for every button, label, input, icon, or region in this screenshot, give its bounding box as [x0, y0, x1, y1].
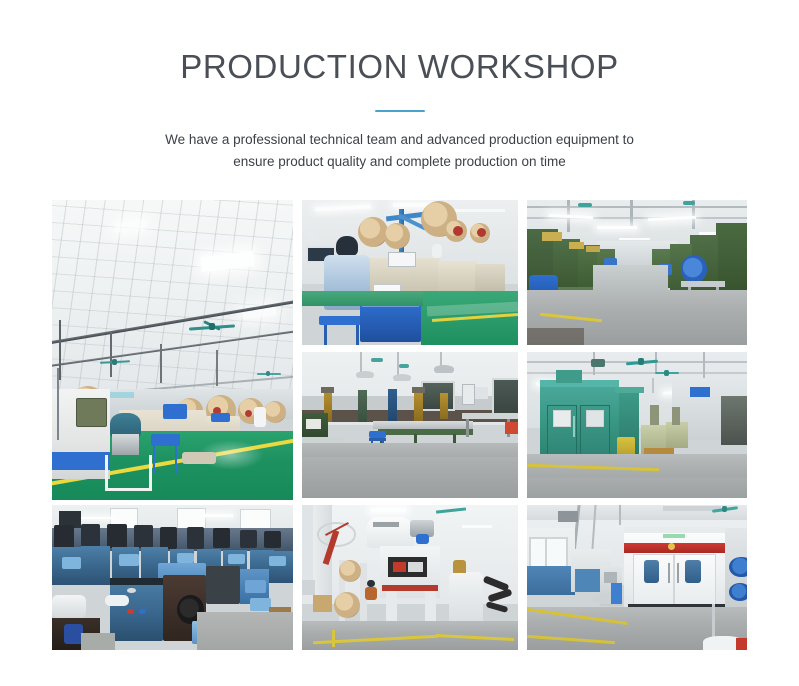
ceiling-fan-icon	[189, 323, 235, 332]
worker-figure	[365, 580, 377, 600]
gallery-photo-2[interactable]	[302, 200, 518, 345]
gallery-photo-4[interactable]	[302, 352, 518, 498]
photo-8-scene	[527, 505, 747, 650]
photo-2-scene	[302, 200, 518, 345]
ceiling-fan-icon	[655, 370, 679, 377]
gallery-photo-3[interactable]	[527, 200, 747, 345]
ceiling-fan-icon	[257, 371, 281, 377]
photo-4-scene	[302, 352, 518, 498]
section-subtitle: We have a professional technical team an…	[140, 112, 660, 173]
photo-3-scene	[527, 200, 747, 345]
photo-6-scene	[52, 505, 293, 650]
photo-7-scene	[302, 505, 518, 650]
gallery-photo-8[interactable]	[527, 505, 747, 650]
gallery-photo-6[interactable]	[52, 505, 293, 650]
gallery-photo-7[interactable]	[302, 505, 518, 650]
subtitle-line-2: ensure product quality and complete prod…	[233, 154, 565, 169]
photo-5-scene	[527, 352, 747, 498]
blue-crate	[360, 302, 420, 343]
page-title: PRODUCTION WORKSHOP	[0, 0, 799, 88]
photo-1-scene	[52, 200, 293, 500]
section-header: PRODUCTION WORKSHOP We have a profession…	[0, 0, 799, 173]
ceiling-fan-icon	[100, 359, 130, 366]
ceiling-fan-icon	[626, 358, 658, 366]
production-workshop-page: PRODUCTION WORKSHOP We have a profession…	[0, 0, 799, 686]
subtitle-line-1: We have a professional technical team an…	[165, 132, 634, 147]
ceiling-fan-icon	[712, 506, 738, 513]
gallery-photo-5[interactable]	[527, 352, 747, 498]
gallery-photo-1[interactable]	[52, 200, 293, 500]
photo-gallery	[52, 200, 747, 650]
